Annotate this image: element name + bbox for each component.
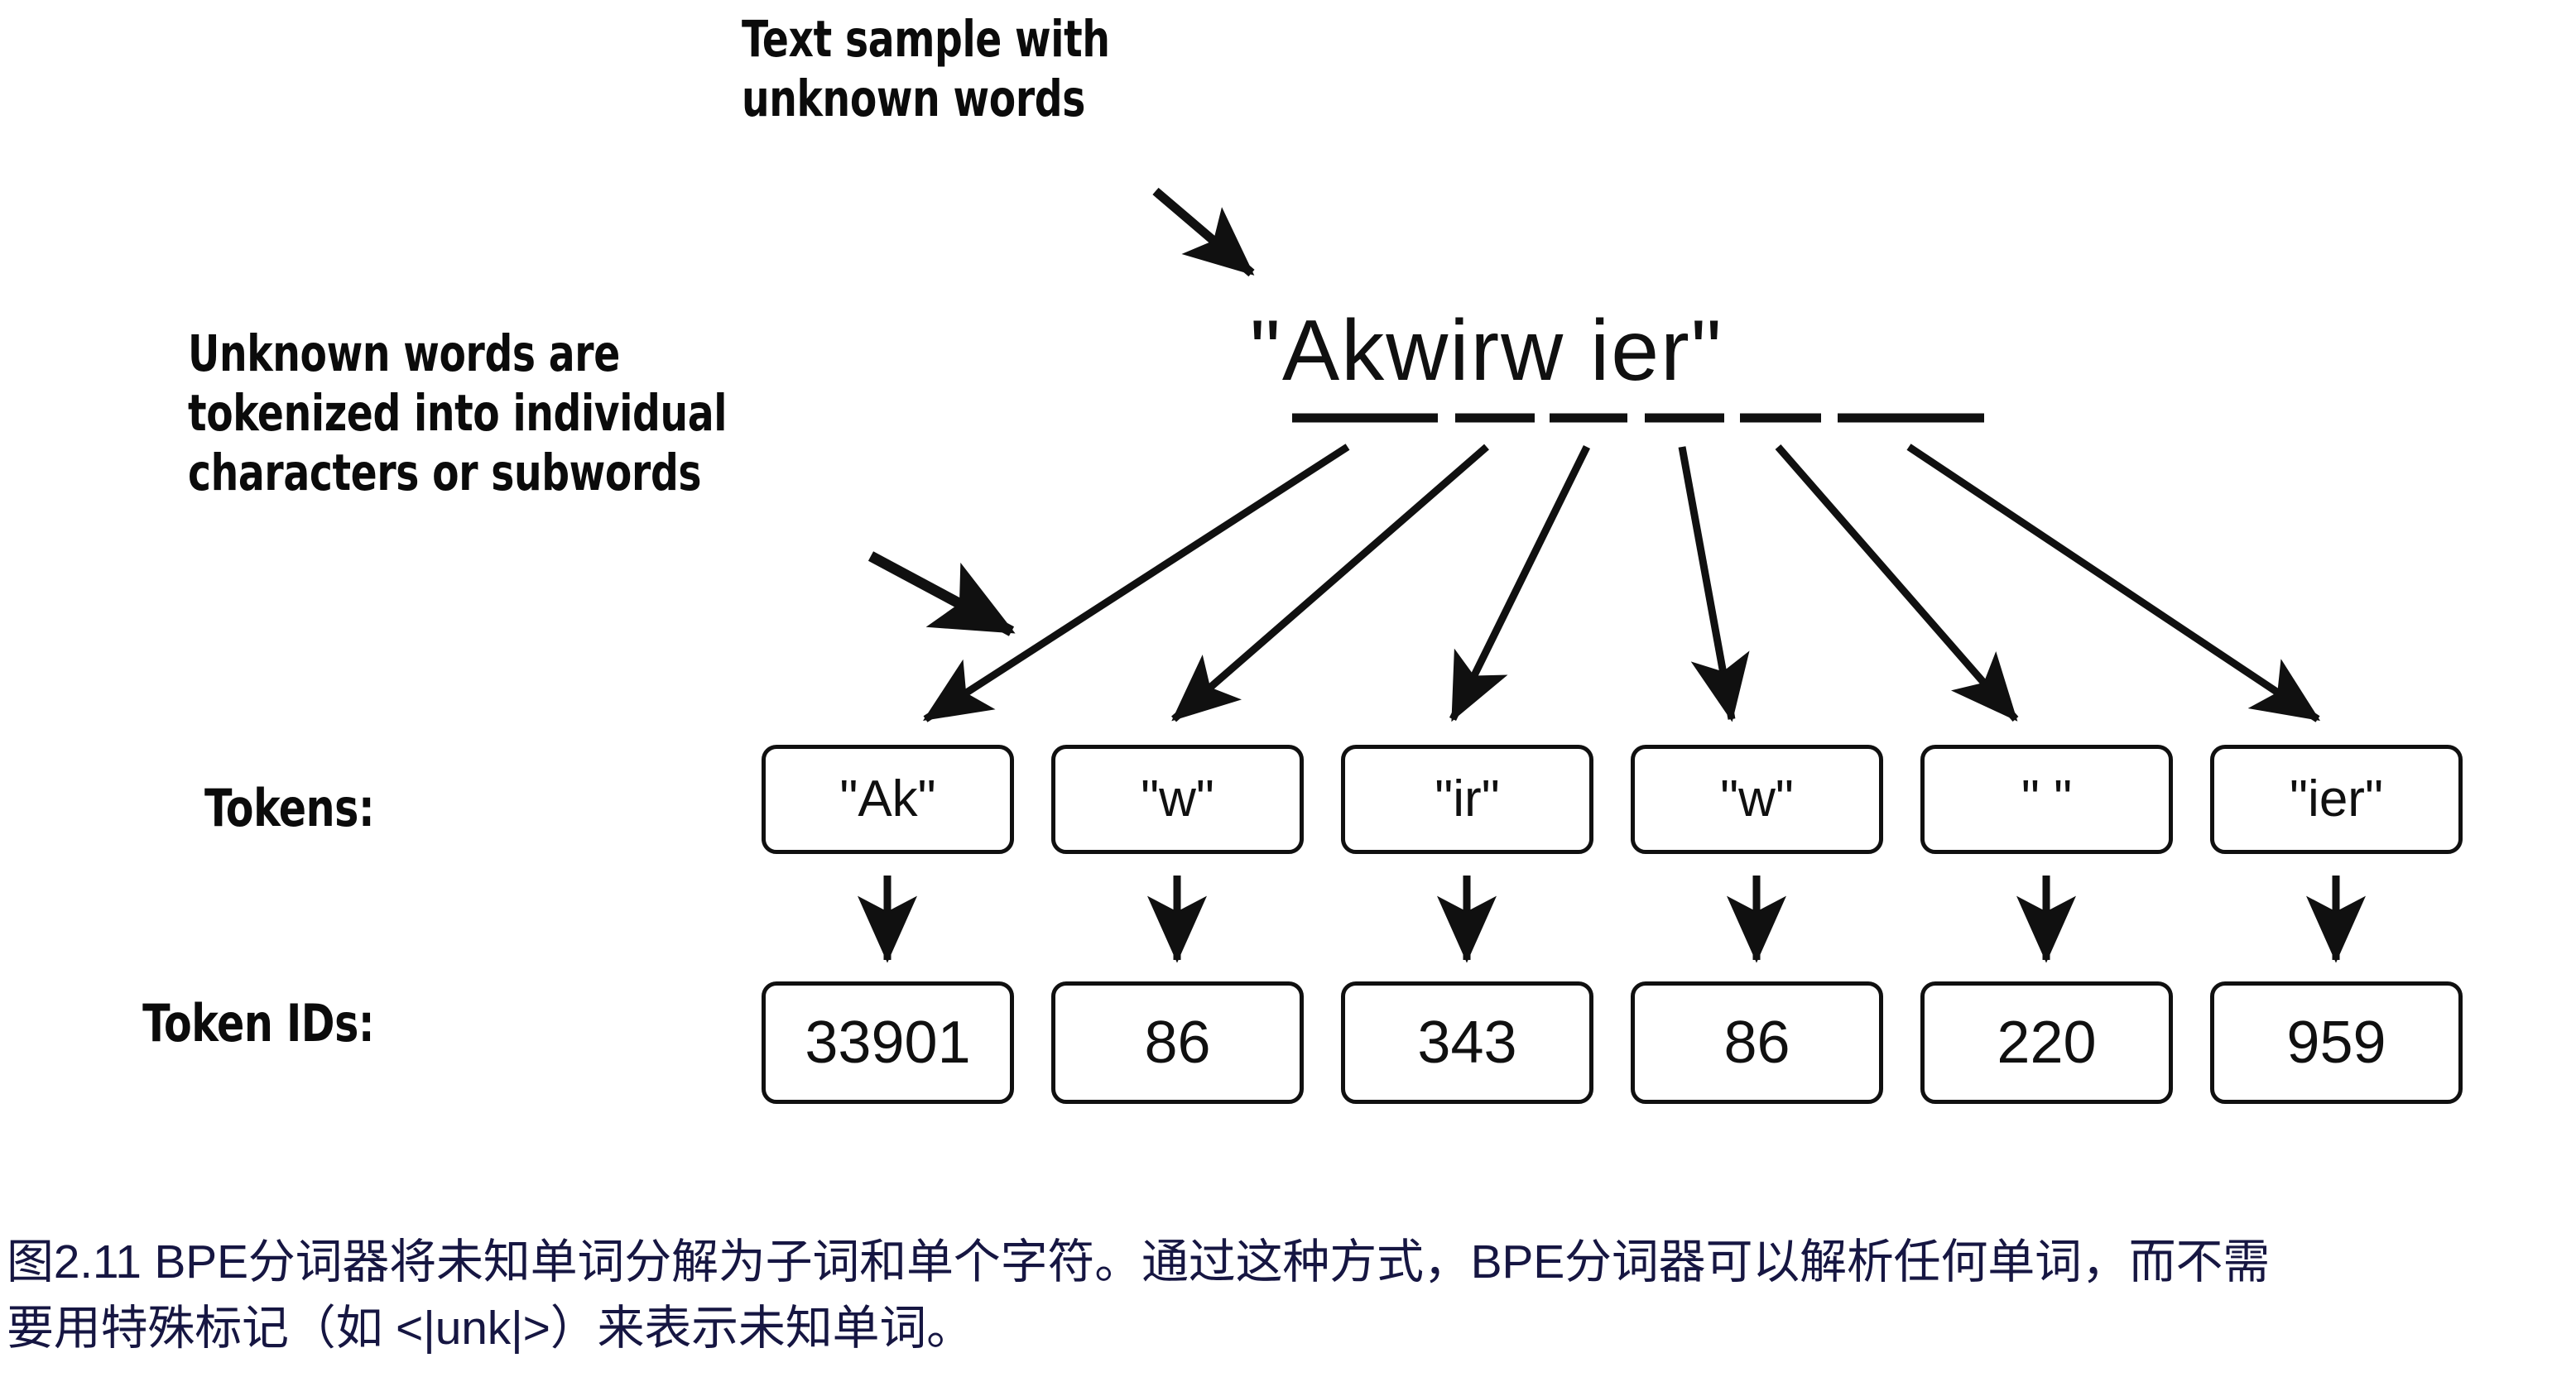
token-text: "ir" (1435, 774, 1499, 825)
token-text: "Ak" (839, 774, 935, 825)
token-text: " " (2021, 774, 2072, 825)
token-id-box: 343 (1341, 981, 1593, 1104)
token-id-text: 959 (2286, 1013, 2386, 1072)
token-id-box: 959 (2210, 981, 2463, 1104)
arrow-title-to-sample (1156, 191, 1252, 273)
annotation-unknown-words-note: Unknown words are tokenized into individ… (188, 324, 800, 503)
arrow-note-to-tokens (871, 556, 1012, 631)
token-id-box: 86 (1631, 981, 1883, 1104)
token-text: "w" (1141, 774, 1214, 825)
token-box: "ir" (1341, 745, 1593, 854)
token-id-box: 33901 (762, 981, 1014, 1104)
row-label-tokens: Tokens: (204, 778, 374, 838)
token-id-box: 86 (1051, 981, 1304, 1104)
token-box: "ier" (2210, 745, 2463, 854)
token-text: "ier" (2290, 774, 2383, 825)
sample-string: "Akwirw ier" (1250, 308, 1723, 394)
figure-caption: 图2.11 BPE分词器将未知单词分解为子词和单个字符。通过这种方式，BPE分词… (7, 1230, 2564, 1362)
token-box: "w" (1631, 745, 1883, 854)
token-id-text: 86 (1723, 1013, 1790, 1072)
token-id-box: 220 (1920, 981, 2173, 1104)
token-text: "w" (1720, 774, 1794, 825)
fanout-arrows (925, 447, 2318, 719)
token-id-text: 343 (1417, 1013, 1516, 1072)
token-box: "w" (1051, 745, 1304, 854)
caption-line-1: 图2.11 BPE分词器将未知单词分解为子词和单个字符。通过这种方式，BPE分词… (7, 1230, 2564, 1296)
token-id-text: 86 (1144, 1013, 1210, 1072)
diagram-arrow-overlay (0, 0, 2576, 1377)
caption-line-2: 要用特殊标记（如 <|unk|>）来表示未知单词。 (7, 1296, 2564, 1362)
token-box: "Ak" (762, 745, 1014, 854)
token-id-text: 33901 (805, 1013, 970, 1072)
token-box: " " (1920, 745, 2173, 854)
row-label-token-ids: Token IDs: (142, 993, 374, 1053)
annotation-text-sample-note: Text sample with unknown words (742, 10, 1283, 129)
token-to-id-arrows (887, 876, 2336, 960)
figure-bpe-tokenizer-diagram: Text sample with unknown words Unknown w… (0, 0, 2576, 1377)
token-id-text: 220 (1997, 1013, 2096, 1072)
